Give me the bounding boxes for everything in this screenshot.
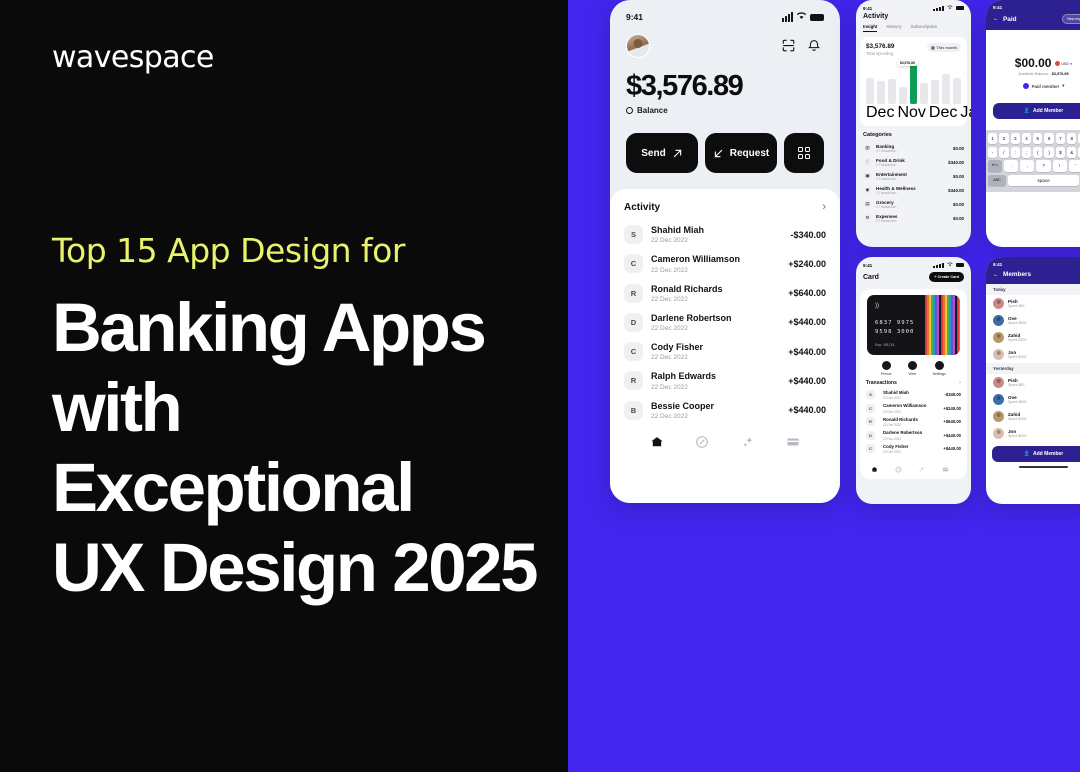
table-row[interactable]: DDarlene Robertson22 Dec 2022+$440.00 <box>624 308 826 337</box>
member-spent: Spent $500 <box>1008 400 1026 404</box>
transaction-name: Darlene Robertson <box>651 313 780 324</box>
category-sub: 0 Transaction <box>876 177 949 181</box>
send-button[interactable]: Send <box>626 133 698 173</box>
paid-amount-value: $00.00 <box>1015 56 1052 70</box>
transaction-list: SShahid Miah22 Dec 2022-$340.00CCameron … <box>624 220 826 425</box>
transaction-date: 22 Dec 2022 <box>883 437 935 441</box>
transactions-header: Transactions › <box>866 380 961 386</box>
key-2[interactable]: 2 <box>999 133 1008 144</box>
settings-action[interactable]: Settings <box>933 361 946 376</box>
category-info: Entertainment0 Transaction <box>876 172 949 181</box>
member-info: OveSpent $500 <box>1008 316 1026 325</box>
member-info: JonSpent $200 <box>1008 350 1026 359</box>
transaction-amount: +$240.00 <box>943 406 961 411</box>
status-time: 9:41 <box>993 5 1002 10</box>
transaction-amount: +$640.00 <box>788 288 826 298</box>
request-button[interactable]: Request <box>705 133 777 173</box>
wifi-icon <box>796 12 807 22</box>
status-time: 9:41 <box>863 263 872 268</box>
list-item[interactable]: PishSpent $50 <box>986 295 1080 312</box>
paid-amount-block: $00.00 USD ▾ Available Balance : $3,576.… <box>986 30 1080 119</box>
transaction-name: Cameron Williamson <box>883 403 935 409</box>
add-member-label: Add Member <box>1033 451 1063 457</box>
card-stripes <box>925 295 960 355</box>
key-([interactable]: ( <box>1033 147 1042 158</box>
tab-insight[interactable]: Insight <box>863 24 877 32</box>
transaction-info: Darlene Robertson22 Dec 2022 <box>883 430 935 441</box>
card-number-line-1: 6837 9975 <box>875 319 914 328</box>
table-row[interactable]: RRalph Edwards22 Dec 2022+$440.00 <box>624 366 826 395</box>
poster-canvas: wavespace Top 15 App Design for Banking … <box>0 0 1080 772</box>
table-row[interactable]: RRonald Richards22 Dec 2022+$640.00 <box>866 415 961 429</box>
transaction-info: Cameron Williamson22 Dec 2022 <box>651 254 780 273</box>
available-balance-value: $3,576.89 <box>1052 72 1069 76</box>
page-title: Banking Apps with Exceptional UX Design … <box>52 288 552 608</box>
table-row[interactable]: CCody Fisher22 Dec 2022+$440.00 <box>866 442 961 456</box>
avatar: R <box>866 417 875 426</box>
table-row[interactable]: CCameron Williamson22 Dec 2022+$240.00 <box>624 249 826 278</box>
headline-line-2: with Exceptional <box>52 368 552 528</box>
transaction-info: Shahid Miah22 Dec 2022 <box>651 225 782 244</box>
month-filter[interactable]: ▦ This month <box>927 43 961 52</box>
headline-line-1: Banking Apps <box>52 288 552 368</box>
category-amount: $340.00 <box>948 188 964 193</box>
transaction-name: Cody Fisher <box>883 444 935 450</box>
transaction-amount: +$440.00 <box>943 433 961 438</box>
status-time: 9:41 <box>626 12 643 22</box>
chart-bar <box>942 62 950 104</box>
battery-icon <box>956 263 964 267</box>
paid-title-row: ← Paid New expense <box>993 14 1080 24</box>
category-info: Banking0 Transaction <box>876 144 949 153</box>
transaction-amount: +$640.00 <box>943 419 961 424</box>
transaction-info: Shahid Miah22 Dec 2022 <box>883 390 936 401</box>
chart-bar <box>931 62 939 104</box>
transaction-date: 22 Dec 2022 <box>651 384 780 391</box>
battery-icon <box>810 14 824 21</box>
bottom-nav <box>860 456 967 477</box>
avatar: C <box>866 404 875 413</box>
bar <box>942 74 950 104</box>
transaction-amount: +$440.00 <box>788 347 826 357</box>
activity-header: Activity › <box>624 201 826 213</box>
compass-icon[interactable] <box>895 460 909 474</box>
paid-member-label: Paid member <box>1032 84 1060 89</box>
spending-card: $3,576.89 Total spending ▦ This month $3… <box>860 37 967 126</box>
avatar: C <box>624 254 643 273</box>
member-spent: Spent $50 <box>1008 304 1024 308</box>
transactions-title: Transactions <box>866 380 897 386</box>
add-member-label: Add Member <box>1033 108 1063 114</box>
section-header: Today <box>986 284 1080 295</box>
card-icon[interactable] <box>786 435 800 449</box>
freeze-action[interactable]: Freeze <box>881 361 892 376</box>
member-info: ZahidSpent $100 <box>1008 333 1026 342</box>
key-/[interactable]: / <box>999 147 1008 158</box>
phone-mockup-card: 9:41 Card + Create Card )) 6837 9975 959 <box>856 257 971 504</box>
list-item[interactable]: ▤Grocery0 Transaction$0.00 <box>863 197 964 211</box>
transaction-info: Cody Fisher22 Dec 2022 <box>651 342 780 361</box>
transaction-date: 22 Dec 2022 <box>651 296 780 303</box>
balance-amount: $3,576.89 <box>626 70 824 103</box>
chart-tooltip: $3,576.89 <box>897 60 918 66</box>
card-expiry: Exp 09/24 <box>875 343 894 347</box>
key-:[interactable]: : <box>1011 147 1020 158</box>
avatar[interactable] <box>626 34 650 58</box>
categories-section: Categories ▥Banking0 Transaction$0.00🍴Fo… <box>856 132 971 225</box>
avatar <box>993 315 1004 326</box>
home-toolbar <box>626 34 824 58</box>
key-3[interactable]: 3 <box>1011 133 1020 144</box>
phone-mockup-activity: 9:41 Activity Insight History Subscripti… <box>856 0 971 247</box>
avatar: B <box>624 401 643 420</box>
transaction-date: 22 Dec 2022 <box>651 325 780 332</box>
chart-bar <box>877 62 885 104</box>
list-item[interactable]: ◉Health & Wellness2 Transaction$340.00 <box>863 183 964 197</box>
transaction-amount: +$440.00 <box>943 446 961 451</box>
available-balance: Available Balance : $3,576.89 <box>993 72 1080 76</box>
activity-body: Activity Insight History Subscription <box>856 13 971 32</box>
card-icon[interactable] <box>942 460 956 474</box>
category-amount: $0.00 <box>953 202 964 207</box>
transaction-date: 22 Dec 2022 <box>651 237 782 244</box>
category-sub: 2 Transaction <box>876 191 944 195</box>
card-panel: )) 6837 9975 9598 3000 Exp 09/24 Freeze … <box>860 289 967 479</box>
key-6[interactable]: 6 <box>1044 133 1053 144</box>
screen-title: Paid <box>1003 16 1017 23</box>
chevron-down-icon: ▾ <box>1062 83 1064 89</box>
transaction-name: Bessie Cooper <box>651 401 780 412</box>
key-.[interactable]: . <box>1004 160 1018 172</box>
category-info: Health & Wellness2 Transaction <box>876 186 944 195</box>
transaction-name: Shahid Miah <box>651 225 782 236</box>
chevron-down-icon: ▾ <box>1070 62 1072 66</box>
key-'[interactable]: ' <box>1069 160 1080 172</box>
key-$[interactable]: $ <box>1056 147 1065 158</box>
table-row[interactable]: CCody Fisher22 Dec 2022+$440.00 <box>624 337 826 366</box>
eyebrow-text: Top 15 App Design for <box>52 232 552 270</box>
transaction-amount: +$440.00 <box>788 376 826 386</box>
table-row[interactable]: BBessie Cooper22 Dec 2022+$440.00 <box>624 396 826 425</box>
transaction-name: Cody Fisher <box>651 342 780 353</box>
member-avatar-icon <box>1023 83 1029 89</box>
keyboard-row-symbols: -/:;()$&@" <box>988 147 1080 158</box>
members-title-row: ← Members <box>993 271 1080 278</box>
transaction-amount: -$340.00 <box>790 230 826 240</box>
avatar: C <box>624 342 643 361</box>
key-4[interactable]: 4 <box>1022 133 1031 144</box>
bar <box>866 78 874 104</box>
bar <box>920 83 928 104</box>
key-?[interactable]: ? <box>1036 160 1050 172</box>
chart-x-label: Dec <box>929 104 957 122</box>
key-8[interactable]: 8 <box>1067 133 1076 144</box>
month-filter-label: This month <box>937 46 957 50</box>
signal-icon <box>782 12 793 22</box>
categories-title: Categories <box>863 132 964 138</box>
category-info: Expenses0 Transaction <box>876 214 949 223</box>
chart-bar <box>866 62 874 104</box>
members-header: 9:41 ← Members <box>986 257 1080 284</box>
battery-icon <box>956 6 964 10</box>
right-panel: 9:41 <box>568 0 1080 772</box>
tab-bar: Insight History Subscription <box>863 24 964 32</box>
transaction-info: Ralph Edwards22 Dec 2022 <box>651 371 780 390</box>
chart-x-labels: DecNovDecJanFebMarAprMayJun <box>866 104 961 122</box>
transaction-date: 22 Dec 2022 <box>651 354 780 361</box>
key-5[interactable]: 5 <box>1033 133 1042 144</box>
chart-bar <box>953 62 961 104</box>
avatar <box>993 428 1004 439</box>
chart-bar <box>888 62 896 104</box>
transaction-info: Cameron Williamson22 Dec 2022 <box>883 403 935 414</box>
home-icon[interactable] <box>650 435 664 449</box>
back-arrow-icon[interactable]: ← <box>993 16 999 22</box>
tab-subscription[interactable]: Subscription <box>911 24 938 32</box>
avatar <box>993 411 1004 422</box>
list-item[interactable]: PishSpent $50 <box>986 374 1080 391</box>
key-,[interactable]: , <box>1020 160 1034 172</box>
member-info: JonSpent $200 <box>1008 429 1026 438</box>
key-#+=[interactable]: #+= <box>988 160 1002 172</box>
category-sub: 0 Transaction <box>876 205 949 209</box>
view-icon <box>908 361 917 370</box>
category-list: ▥Banking0 Transaction$0.00🍴Food & Drink2… <box>863 141 964 225</box>
key-;[interactable]: ; <box>1022 147 1031 158</box>
transaction-name: Darlene Robertson <box>883 430 935 436</box>
tab-history[interactable]: History <box>886 24 901 32</box>
bank-icon: ▥ <box>863 144 872 153</box>
person-icon: 👤 <box>1024 451 1030 457</box>
list-item[interactable]: ▥Banking0 Transaction$0.00 <box>863 141 964 155</box>
avatar: R <box>624 284 643 303</box>
transaction-date: 22 Dec 2022 <box>651 413 780 420</box>
transaction-date: 22 Dec 2022 <box>651 267 780 274</box>
avatar: S <box>624 225 643 244</box>
home-header: 9:41 <box>610 0 840 189</box>
list-item[interactable]: JonSpent $200 <box>986 346 1080 363</box>
headline-line-3: UX Design 2025 <box>52 528 552 608</box>
paid-member-select[interactable]: Paid member ▾ <box>993 83 1080 89</box>
balance-label: Balance <box>637 106 668 115</box>
key-![interactable]: ! <box>1053 160 1067 172</box>
card-header: Card + Create Card <box>856 270 971 289</box>
members-list: TodayPishSpent $50OveSpent $500ZahidSpen… <box>986 284 1080 442</box>
home-indicator <box>1019 466 1067 468</box>
transaction-amount: +$440.00 <box>788 405 826 415</box>
chart-bar <box>920 62 928 104</box>
compass-icon[interactable] <box>695 435 709 449</box>
grid-icon <box>798 147 811 160</box>
chart-x-label: Dec <box>866 104 894 122</box>
entertainment-icon: ▣ <box>863 172 872 181</box>
keyboard-row-bottom: ABC space return <box>988 175 1080 186</box>
category-amount: $0.00 <box>953 174 964 179</box>
transaction-name: Shahid Miah <box>883 390 936 396</box>
expenses-icon: ⚙ <box>863 214 872 223</box>
headline-block: Top 15 App Design for Banking Apps with … <box>52 232 552 608</box>
add-member-button[interactable]: 👤 Add Member <box>993 103 1080 119</box>
credit-card[interactable]: )) 6837 9975 9598 3000 Exp 09/24 <box>867 295 960 355</box>
keyboard-row-punctuation: #+=.,?!'⌫ <box>988 160 1080 172</box>
list-item[interactable]: JonSpent $200 <box>986 425 1080 442</box>
section-header: Yesterday <box>986 363 1080 374</box>
arrow-down-left-icon <box>713 148 724 159</box>
bell-icon[interactable] <box>807 38 824 55</box>
activity-title: Activity <box>624 202 660 213</box>
transaction-amount: +$440.00 <box>788 317 826 327</box>
key--[interactable]: - <box>988 147 997 158</box>
chevron-right-icon[interactable]: › <box>822 201 826 213</box>
currency-label: USD <box>1061 62 1069 66</box>
transaction-name: Ralph Edwards <box>651 371 780 382</box>
member-info: PishSpent $50 <box>1008 378 1024 387</box>
freeze-label: Freeze <box>881 372 892 376</box>
key-abc[interactable]: ABC <box>988 175 1006 186</box>
avatar: R <box>624 371 643 390</box>
member-info: PishSpent $50 <box>1008 299 1024 308</box>
signal-icon <box>933 6 944 11</box>
table-row[interactable]: SShahid Miah22 Dec 2022-$340.00 <box>624 220 826 249</box>
back-arrow-icon[interactable]: ← <box>993 272 999 278</box>
bar <box>899 87 907 104</box>
transaction-name: Cameron Williamson <box>651 254 780 265</box>
list-item[interactable]: 🍴Food & Drink2 Transaction$340.00 <box>863 155 964 169</box>
status-bar: 9:41 <box>856 257 971 270</box>
transaction-amount: +$240.00 <box>788 259 826 269</box>
arrow-up-right-icon <box>672 148 683 159</box>
currency-flag-icon <box>1055 61 1060 66</box>
category-amount: $0.00 <box>953 146 964 151</box>
add-member-button[interactable]: 👤 Add Member <box>992 446 1080 462</box>
avatar: D <box>624 313 643 332</box>
contactless-icon: )) <box>875 303 879 309</box>
key-7[interactable]: 7 <box>1056 133 1065 144</box>
sparkle-icon[interactable] <box>741 435 755 449</box>
bar <box>877 81 885 104</box>
member-info: OveSpent $500 <box>1008 395 1026 404</box>
member-spent: Spent $200 <box>1008 434 1026 438</box>
key-1[interactable]: 1 <box>988 133 997 144</box>
list-item[interactable]: ⚙Expenses0 Transaction$0.00 <box>863 211 964 225</box>
table-row[interactable]: DDarlene Robertson22 Dec 2022+$440.00 <box>866 429 961 443</box>
chevron-right-icon[interactable]: › <box>959 380 961 386</box>
paid-header: 9:41 ← Paid New expense <box>986 0 1080 30</box>
list-item[interactable]: ZahidSpent $100 <box>986 329 1080 346</box>
more-apps-button[interactable] <box>784 133 824 173</box>
list-item[interactable]: OveSpent $500 <box>986 391 1080 408</box>
category-amount: $340.00 <box>948 160 964 165</box>
brand-logo: wavespace <box>52 40 214 75</box>
transaction-info: Cody Fisher22 Dec 2022 <box>883 444 935 455</box>
phone-mockup-home: 9:41 <box>610 0 840 503</box>
create-card-button[interactable]: + Create Card <box>929 272 964 282</box>
avatar <box>993 332 1004 343</box>
list-item[interactable]: ZahidSpent $100 <box>986 408 1080 425</box>
settings-label: Settings <box>933 372 946 376</box>
keyboard-row-numbers: 1234567890 <box>988 133 1080 144</box>
total-label: Total spending <box>866 51 894 56</box>
phone-mockup-paid: 9:41 ← Paid New expense $00.00 USD ▾ <box>986 0 1080 247</box>
list-item[interactable]: OveSpent $500 <box>986 312 1080 329</box>
calendar-icon: ▦ <box>931 45 935 50</box>
bar <box>931 80 939 104</box>
transaction-date: 22 Dec 2022 <box>883 396 936 400</box>
member-spent: Spent $100 <box>1008 417 1026 421</box>
chart-bar <box>910 62 918 104</box>
category-amount: $0.00 <box>953 216 964 221</box>
activity-sheet: Activity › SShahid Miah22 Dec 2022-$340.… <box>610 189 840 503</box>
transaction-amount: -$340.00 <box>944 392 961 397</box>
key-)[interactable]: ) <box>1044 147 1053 158</box>
category-info: Food & Drink2 Transaction <box>876 158 944 167</box>
table-row[interactable]: RRonald Richards22 Dec 2022+$640.00 <box>624 279 826 308</box>
category-sub: 0 Transaction <box>876 219 949 223</box>
send-label: Send <box>641 148 665 159</box>
freeze-icon <box>882 361 891 370</box>
paid-amount: $00.00 USD ▾ <box>993 56 1080 70</box>
avatar: C <box>866 444 875 453</box>
scan-icon[interactable] <box>781 38 798 55</box>
table-row[interactable]: CCameron Williamson22 Dec 2022+$240.00 <box>866 402 961 416</box>
category-sub: 2 Transaction <box>876 163 944 167</box>
transaction-date: 22 Dec 2022 <box>883 450 935 454</box>
transaction-list: SShahid Miah22 Dec 2022-$340.00CCameron … <box>866 388 961 456</box>
total-amount: $3,576.89 <box>866 43 894 50</box>
bottom-nav <box>624 425 826 449</box>
sparkle-icon[interactable] <box>918 460 932 474</box>
request-label: Request <box>730 148 769 159</box>
new-expense-button[interactable]: New expense <box>1062 14 1080 24</box>
currency-select[interactable]: USD ▾ <box>1055 61 1072 66</box>
screen-title: Activity <box>863 13 964 20</box>
transaction-info: Ronald Richards22 Dec 2022 <box>651 284 780 303</box>
transaction-name: Ronald Richards <box>883 417 935 423</box>
transaction-info: Ronald Richards22 Dec 2022 <box>883 417 935 428</box>
view-label: View <box>908 372 917 376</box>
bar <box>953 78 961 104</box>
food-icon: 🍴 <box>863 158 872 167</box>
list-item[interactable]: ▣Entertainment0 Transaction$0.00 <box>863 169 964 183</box>
transaction-date: 22 Dec 2022 <box>883 410 935 414</box>
health-icon: ◉ <box>863 186 872 195</box>
avatar <box>993 394 1004 405</box>
card-number-line-2: 9598 3000 <box>875 328 914 337</box>
chart-bar <box>899 62 907 104</box>
screen-title: Members <box>1003 271 1031 278</box>
wifi-icon <box>947 262 953 268</box>
left-panel: wavespace Top 15 App Design for Banking … <box>0 0 568 772</box>
key-&[interactable]: & <box>1067 147 1076 158</box>
member-spent: Spent $100 <box>1008 338 1026 342</box>
avatar: D <box>866 431 875 440</box>
spending-bar-chart <box>866 62 961 104</box>
view-action[interactable]: View <box>908 361 917 376</box>
home-icon[interactable] <box>871 460 885 474</box>
key-space[interactable]: space <box>1008 175 1079 186</box>
avatar: S <box>866 390 875 399</box>
avatar <box>993 349 1004 360</box>
table-row[interactable]: SShahid Miah22 Dec 2022-$340.00 <box>866 388 961 402</box>
signal-icon <box>933 263 944 268</box>
chart-x-label: Jan <box>960 104 971 122</box>
status-time: 9:41 <box>863 6 872 11</box>
bar <box>910 62 918 104</box>
member-spent: Spent $200 <box>1008 355 1026 359</box>
bar <box>888 79 896 104</box>
screen-title: Card <box>863 274 879 281</box>
status-icons <box>933 5 964 11</box>
